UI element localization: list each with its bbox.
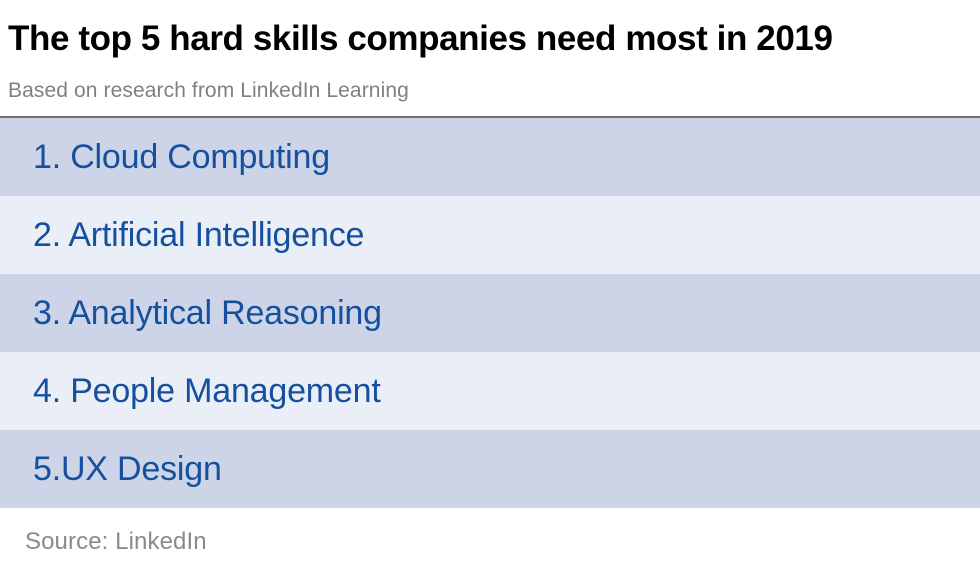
list-item-label: 1. Cloud Computing	[33, 137, 330, 177]
list-item-label: 4. People Management	[33, 371, 381, 411]
list-item-label: 5.UX Design	[33, 449, 222, 489]
list-item: 5.UX Design	[0, 430, 980, 508]
list-item: 1. Cloud Computing	[0, 118, 980, 196]
list-item-label: 3. Analytical Reasoning	[33, 293, 382, 333]
ranked-skill-list: 1. Cloud Computing 2. Artificial Intelli…	[0, 118, 980, 508]
source-attribution: Source: LinkedIn	[25, 527, 207, 557]
list-item-label: 2. Artificial Intelligence	[33, 215, 364, 255]
list-item: 4. People Management	[0, 352, 980, 430]
infographic-card: The top 5 hard skills companies need mos…	[0, 0, 980, 580]
list-item: 3. Analytical Reasoning	[0, 274, 980, 352]
page-title: The top 5 hard skills companies need mos…	[8, 18, 833, 60]
list-item: 2. Artificial Intelligence	[0, 196, 980, 274]
page-subtitle: Based on research from LinkedIn Learning	[8, 78, 409, 104]
